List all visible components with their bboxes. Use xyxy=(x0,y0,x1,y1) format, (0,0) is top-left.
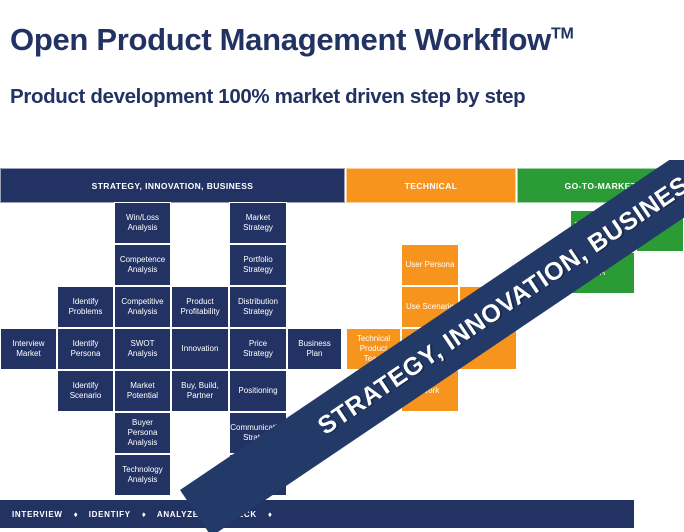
process-steps-strip: INTERVIEW ♦ IDENTIFY ♦ ANALYZE ♦ CHECK ♦ xyxy=(0,498,634,528)
process-step-analyze[interactable]: ANALYZE xyxy=(157,510,199,519)
cell-market-potential[interactable]: MarketPotential xyxy=(114,370,171,412)
cell-win-loss-analysis[interactable]: Win/LossAnalysis xyxy=(114,202,171,244)
cell-interview-market[interactable]: InterviewMarket xyxy=(0,328,57,370)
cell-product-profitability[interactable]: ProductProfitability xyxy=(171,286,229,328)
trademark-symbol: TM xyxy=(551,26,574,43)
title-block: Open Product Management WorkflowTM Produ… xyxy=(0,0,684,160)
cell-identify-problems[interactable]: IdentifyProblems xyxy=(57,286,114,328)
cell-technology-analysis[interactable]: TechnologyAnalysis xyxy=(114,454,171,496)
cell-innovation[interactable]: Innovation xyxy=(171,328,229,370)
diamond-icon: ♦ xyxy=(268,510,272,519)
cell-identify-scenario[interactable]: IdentifyScenario xyxy=(57,370,114,412)
diamond-icon: ♦ xyxy=(142,510,146,519)
page-title: Open Product Management WorkflowTM xyxy=(10,22,574,58)
section-header-technical: TECHNICAL xyxy=(346,168,516,203)
cell-competence-analysis[interactable]: CompetenceAnalysis xyxy=(114,244,171,286)
section-header-strategy: STRATEGY, INNOVATION, BUSINESS xyxy=(0,168,345,203)
cell-identify-persona[interactable]: IdentifyPersona xyxy=(57,328,114,370)
cell-buyer-persona-analysis[interactable]: Buyer PersonaAnalysis xyxy=(114,412,171,454)
cell-portfolio-strategy[interactable]: PortfolioStrategy xyxy=(229,244,287,286)
cell-distribution-strategy[interactable]: DistributionStrategy xyxy=(229,286,287,328)
cell-business-plan[interactable]: BusinessPlan xyxy=(287,328,342,370)
workflow-chart: STRATEGY, INNOVATION, BUSINESS TECHNICAL… xyxy=(0,160,684,532)
diamond-icon: ♦ xyxy=(74,510,78,519)
page-subtitle: Product development 100% market driven s… xyxy=(10,85,525,109)
process-step-identify[interactable]: IDENTIFY xyxy=(89,510,131,519)
cell-user-persona[interactable]: User Persona xyxy=(401,244,459,286)
page-title-text: Open Product Management Workflow xyxy=(10,22,551,57)
workflow-infographic: Open Product Management WorkflowTM Produ… xyxy=(0,0,684,532)
cell-price-strategy[interactable]: PriceStrategy xyxy=(229,328,287,370)
cell-market-strategy[interactable]: MarketStrategy xyxy=(229,202,287,244)
cell-positioning[interactable]: Positioning xyxy=(229,370,287,412)
cell-competitive-analysis[interactable]: CompetitiveAnalysis xyxy=(114,286,171,328)
process-step-interview[interactable]: INTERVIEW xyxy=(12,510,63,519)
cell-buy-build-partner[interactable]: Buy, Build,Partner xyxy=(171,370,229,412)
cell-swot-analysis[interactable]: SWOTAnalysis xyxy=(114,328,171,370)
